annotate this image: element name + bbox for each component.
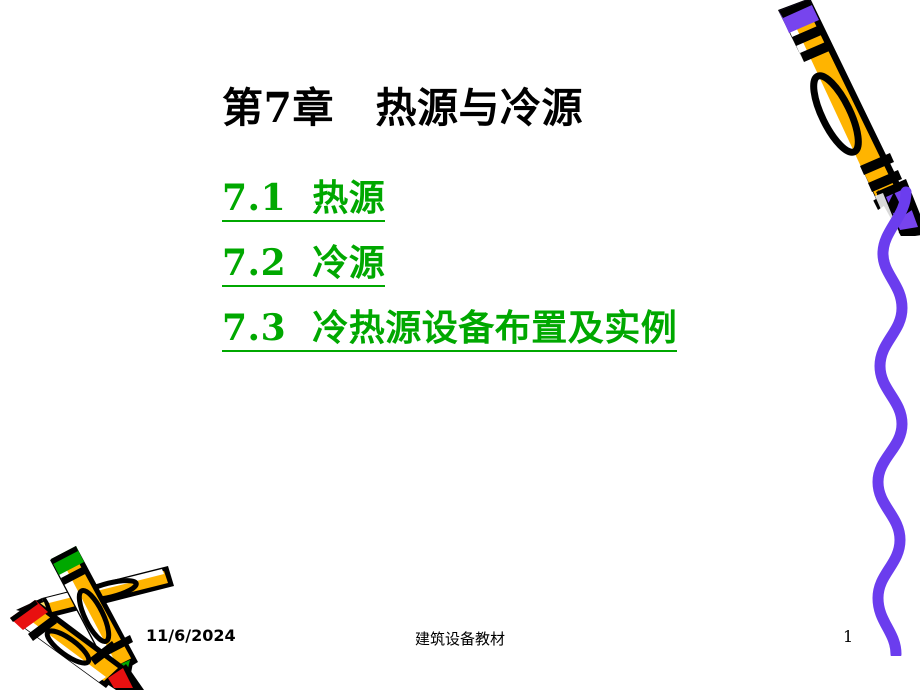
link-section-7-3[interactable]: 7.3 冷热源设备布置及实例 (222, 310, 677, 352)
slide-footer: 11/6/2024 建筑设备教材 1 (0, 626, 920, 654)
page-title: 第7章 热源与冷源 (222, 85, 742, 132)
crayons-icon (6, 538, 178, 690)
footer-center-text: 建筑设备教材 (0, 628, 920, 649)
slide-canvas: 第7章 热源与冷源 7.1 热源 7.2 冷源 7.3 冷热源设备布置及实例 (0, 0, 920, 690)
footer-page-number: 1 (843, 627, 853, 646)
section-link-list: 7.1 热源 7.2 冷源 7.3 冷热源设备布置及实例 (222, 180, 862, 375)
link-section-7-1[interactable]: 7.1 热源 (222, 180, 385, 222)
link-section-7-2[interactable]: 7.2 冷源 (222, 245, 385, 287)
